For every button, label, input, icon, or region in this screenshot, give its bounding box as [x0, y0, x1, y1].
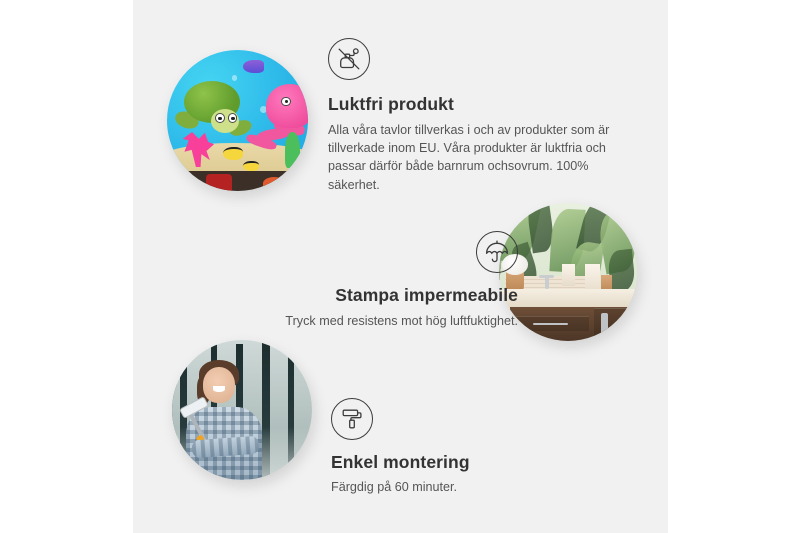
photo-painter-scene [172, 340, 312, 480]
feature-description: Tryck med resistens mot hög luftfuktighe… [218, 312, 518, 330]
crab-icon [263, 177, 286, 190]
no-fragrance-spray-icon [328, 38, 370, 80]
yellow-fish-icon [243, 161, 259, 171]
feature-waterproof: Stampa impermeabile Tryck med resistens … [218, 231, 518, 330]
paint-roller-icon [331, 398, 373, 440]
yellow-fish-icon [223, 147, 243, 160]
sea-floor-shadow [167, 171, 308, 191]
feature-title: Luktfri produkt [328, 94, 623, 116]
painter-illustration [172, 340, 312, 480]
photo-underwater-scene [167, 50, 308, 191]
vanity-door[interactable] [594, 308, 635, 341]
infographic-screenshot: Luktfri produkt Alla våra tavlor tillver… [0, 0, 800, 533]
photo-bathroom-scene [499, 203, 637, 341]
feature-easy-mounting: Enkel montering Färgdig på 60 minuter. [331, 398, 631, 496]
feature-title: Stampa impermeabile [218, 285, 518, 307]
bathroom-bottle [562, 264, 574, 286]
painter-face [203, 367, 235, 403]
seaweed [285, 132, 299, 169]
foreground-red-object [206, 174, 231, 191]
feature-odour-free: Luktfri produkt Alla våra tavlor tillver… [328, 38, 623, 194]
purple-fish-icon [243, 60, 264, 73]
feature-description: Färgdig på 60 minuter. [331, 478, 631, 496]
feature-description: Alla våra tavlor tillverkas i och av pro… [328, 121, 613, 194]
underwater-illustration [167, 50, 308, 191]
painter-smile [213, 386, 226, 392]
umbrella-icon [476, 231, 518, 273]
marble-countertop [499, 289, 637, 308]
bathroom-illustration [499, 203, 637, 341]
infographic-panel: Luktfri produkt Alla våra tavlor tillver… [133, 0, 668, 533]
faucet-icon [545, 275, 549, 289]
drawer-handle[interactable] [533, 323, 569, 325]
door-handle[interactable] [601, 313, 607, 334]
feature-title: Enkel montering [331, 452, 631, 474]
wooden-vanity-cabinet [510, 307, 637, 342]
